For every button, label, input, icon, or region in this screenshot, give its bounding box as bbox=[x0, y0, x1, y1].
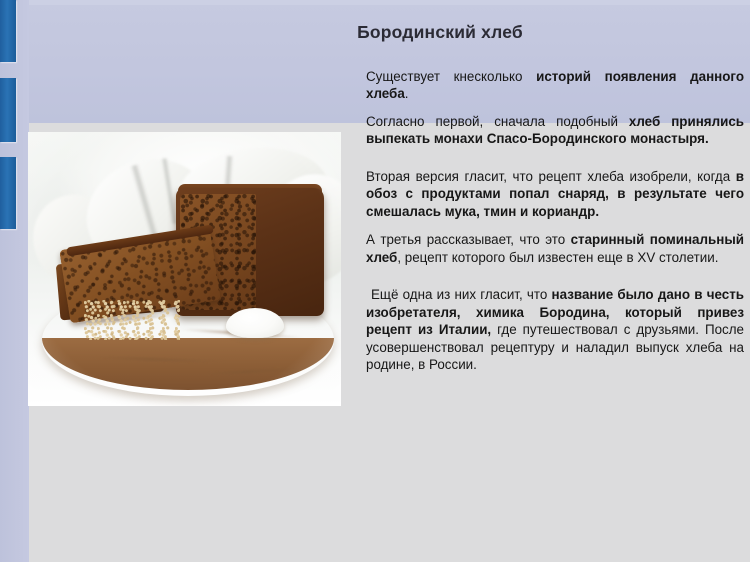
text-run: Согласно первой, сначала подобный bbox=[366, 114, 629, 129]
paragraph-2: Согласно первой, сначала подобный хлеб п… bbox=[366, 113, 744, 148]
photo-scene bbox=[28, 132, 341, 406]
blue-accent-tab-2 bbox=[0, 78, 16, 142]
blue-accent-tab-1 bbox=[0, 0, 16, 62]
board-rim bbox=[42, 338, 334, 390]
slide-title: Бородинский хлеб bbox=[230, 22, 650, 43]
text-run: , рецепт которого был известен еще в XV … bbox=[397, 250, 718, 265]
slide-canvas: Бородинский хлеб bbox=[0, 0, 750, 562]
header-band-highlight bbox=[0, 0, 750, 5]
paragraph-4: А третья рассказывает, что это старинный… bbox=[366, 231, 744, 266]
coriander-seeds bbox=[84, 300, 180, 340]
text-run: Существует кнесколько bbox=[366, 69, 536, 84]
text-run: Вторая версия гласит, что рецепт хлеба и… bbox=[366, 169, 736, 184]
paragraph-3: Вторая версия гласит, что рецепт хлеба и… bbox=[366, 168, 744, 220]
bread-photo bbox=[28, 132, 341, 406]
blue-accent-tab-3 bbox=[0, 157, 16, 229]
text-run: . bbox=[405, 86, 409, 101]
text-run: Ещё одна из них гласит, что bbox=[371, 287, 552, 302]
salt-pile bbox=[226, 308, 284, 338]
paragraph-1: Существует кнесколько историй появления … bbox=[366, 68, 744, 103]
paragraph-5: Ещё одна из них гласит, что название был… bbox=[366, 286, 744, 373]
body-text-column: Существует кнесколько историй появления … bbox=[366, 68, 744, 385]
text-run: А третья рассказывает, что это bbox=[366, 232, 571, 247]
